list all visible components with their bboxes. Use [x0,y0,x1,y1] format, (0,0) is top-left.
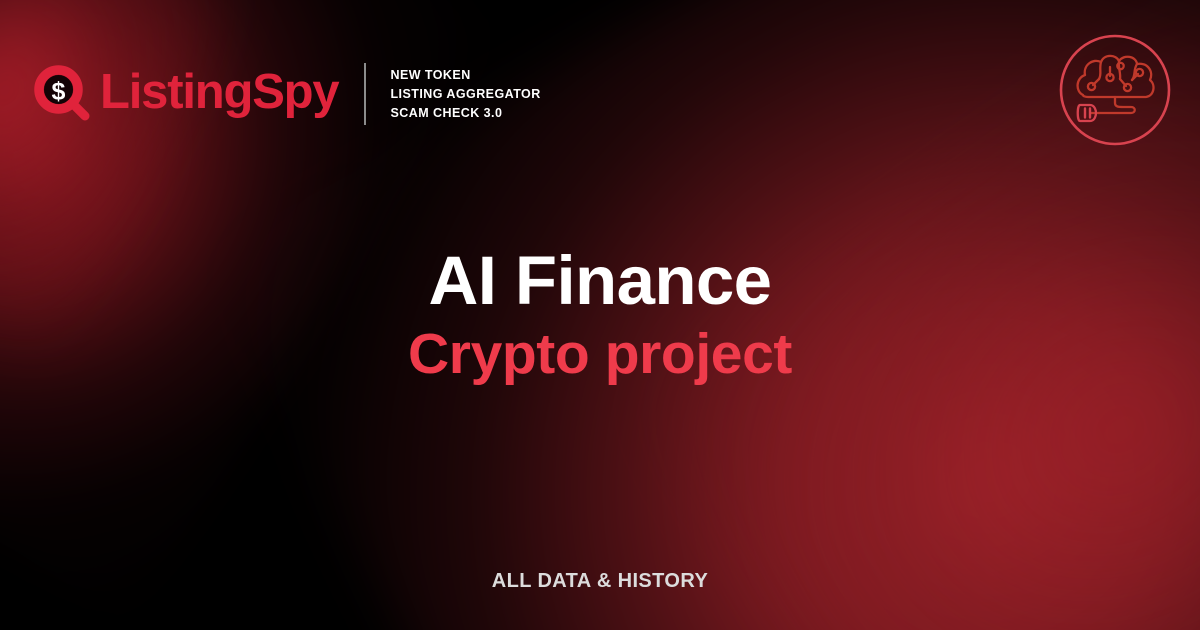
magnifier-dollar-icon: $ [34,65,92,123]
page-title: AI Finance [0,245,1200,317]
promo-banner: $ ListingSpy NEW TOKEN LISTING AGGREGATO… [0,0,1200,630]
svg-text:$: $ [52,78,66,106]
tagline-line-1: NEW TOKEN [390,66,540,85]
header-divider [364,63,366,125]
ai-brain-circuit-icon [1058,33,1172,147]
footer-strapline: ALL DATA & HISTORY [0,570,1200,593]
tagline-line-2: LISTING AGGREGATOR [390,85,540,104]
page-subtitle: Crypto project [0,325,1200,385]
brand-tagline: NEW TOKEN LISTING AGGREGATOR SCAM CHECK … [390,66,540,123]
brand-header: $ ListingSpy NEW TOKEN LISTING AGGREGATO… [34,52,541,136]
brand-wordmark: ListingSpy [100,68,338,117]
tagline-line-3: SCAM CHECK 3.0 [390,104,540,123]
headline-block: AI Finance Crypto project [0,245,1200,385]
